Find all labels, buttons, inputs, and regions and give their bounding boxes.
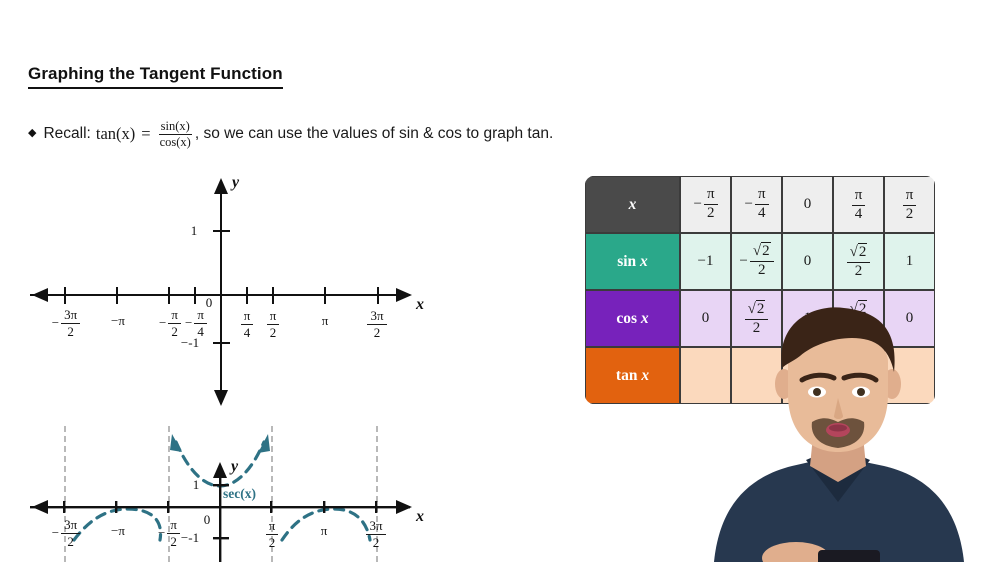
equals-sign: = bbox=[141, 124, 150, 144]
table-row: sin x −1 −√22 0 √22 1 bbox=[585, 233, 935, 290]
diamond-bullet-icon: ◆ bbox=[28, 128, 36, 139]
row-header-sin: sin x bbox=[585, 233, 680, 290]
y-axis-line bbox=[220, 182, 222, 404]
x-tick-label: − 3π2 bbox=[44, 308, 88, 338]
table-cell: π4 bbox=[833, 176, 884, 233]
axis-arrowheads bbox=[0, 168, 460, 408]
table-cell: −1 bbox=[680, 233, 731, 290]
recall-prefix: Recall: bbox=[43, 125, 90, 143]
x-tick-label: π bbox=[305, 523, 343, 539]
table-cell: −π2 bbox=[680, 176, 731, 233]
table-cell: 1 bbox=[884, 233, 935, 290]
table-cell: 0 bbox=[782, 176, 833, 233]
row-header-x: x bbox=[585, 176, 680, 233]
row-header-tan: tan x bbox=[585, 347, 680, 404]
row-header-cos: cos x bbox=[585, 290, 680, 347]
recall-suffix: , so we can use the values of sin & cos … bbox=[195, 125, 553, 143]
x-tick-label: π bbox=[306, 313, 344, 329]
presenter-webcam bbox=[676, 306, 1000, 562]
x-tick-mark bbox=[64, 287, 66, 304]
origin-label: 0 bbox=[198, 512, 216, 528]
x-tick-label: π2 bbox=[253, 518, 291, 549]
x-tick-label: − π2 bbox=[147, 518, 191, 548]
table-cell: −√22 bbox=[731, 233, 782, 290]
table-cell: π2 bbox=[884, 176, 935, 233]
x-tick-mark bbox=[116, 287, 118, 304]
x-tick-mark bbox=[324, 287, 326, 304]
fraction-denominator: cos(x) bbox=[158, 135, 193, 149]
x-tick-mark bbox=[194, 287, 196, 304]
x-tick-label: −π bbox=[96, 313, 140, 329]
x-tick-mark bbox=[246, 287, 248, 304]
page-title: Graphing the Tangent Function bbox=[28, 64, 283, 89]
x-tick-label: −π bbox=[96, 523, 140, 539]
table-cell: −π4 bbox=[731, 176, 782, 233]
y-axis-label: y bbox=[231, 458, 238, 476]
x-tick-mark bbox=[377, 287, 379, 304]
recall-statement: ◆ Recall: tan(x) = sin(x) cos(x) , so we… bbox=[28, 120, 553, 149]
y-tick-label: 1 bbox=[186, 477, 206, 493]
x-tick-mark bbox=[272, 287, 274, 304]
x-axis-label: x bbox=[416, 508, 424, 526]
x-tick-label: − π4 bbox=[174, 308, 218, 338]
table-cell: √22 bbox=[833, 233, 884, 290]
y-tick-label: −-1 bbox=[176, 335, 204, 351]
x-axis-label: x bbox=[416, 296, 424, 314]
x-tick-label: 3π2 bbox=[357, 518, 395, 549]
y-axis-label: y bbox=[232, 174, 239, 192]
x-tick-label: π2 bbox=[254, 308, 292, 339]
tan-of-x: tan(x) bbox=[96, 124, 135, 144]
x-tick-label: − 3π2 bbox=[44, 518, 88, 548]
y-tick-mark bbox=[213, 230, 230, 232]
fraction-numerator: sin(x) bbox=[159, 120, 192, 135]
table-row: x −π2 −π4 0 π4 π2 bbox=[585, 176, 935, 233]
slide-canvas: Graphing the Tangent Function ◆ Recall: … bbox=[0, 0, 1000, 562]
table-cell: 0 bbox=[782, 233, 833, 290]
y-tick-label: 1 bbox=[184, 223, 204, 239]
y-tick-mark bbox=[213, 342, 230, 344]
sin-over-cos-fraction: sin(x) cos(x) bbox=[158, 120, 193, 149]
origin-label: 0 bbox=[200, 295, 218, 311]
graph-top-empty-axes: − 3π2 −π − π2 − π4 π4 π2 π 3π2 bbox=[0, 168, 460, 408]
x-tick-mark bbox=[168, 287, 170, 304]
graph-bottom-secant: y x sec(x) 1 −-1 0 − 3π2 −π − π2 π2 π 3π… bbox=[0, 424, 460, 562]
x-tick-label: 3π2 bbox=[358, 308, 396, 339]
secant-curve-label: sec(x) bbox=[223, 486, 256, 502]
